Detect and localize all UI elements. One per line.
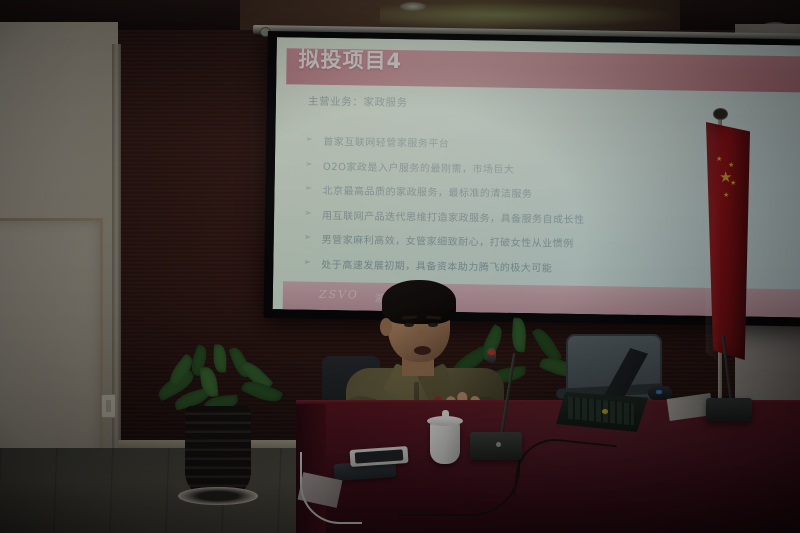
star-icon: ★ bbox=[728, 162, 734, 169]
list-item-label: 用互联网产品迭代思维打造家政服务，具备服务自成长性 bbox=[322, 210, 585, 225]
mouse-led-icon bbox=[656, 390, 662, 394]
laptop-keys[interactable] bbox=[568, 397, 634, 426]
plant-pot bbox=[185, 406, 251, 498]
door-jamb bbox=[112, 44, 121, 492]
speaker-nose bbox=[418, 330, 425, 342]
trackpoint-icon[interactable] bbox=[602, 409, 608, 414]
microphone-indicator-icon bbox=[488, 350, 495, 355]
teacup-lid-knob bbox=[442, 410, 449, 419]
microphone-base[interactable] bbox=[706, 398, 752, 422]
list-item-label: 首家互联网轻管家服务平台 bbox=[323, 137, 449, 150]
plant-pot-base bbox=[178, 487, 258, 505]
speaker-ear bbox=[380, 318, 392, 336]
downlight-icon bbox=[400, 2, 426, 11]
bullet-arrow-icon: ➢ bbox=[304, 208, 312, 218]
speaker-eye bbox=[428, 323, 438, 327]
list-item-label: 男管家麻利高效，女管家细致耐心，打破女性从业惯例 bbox=[322, 235, 574, 250]
bullet-arrow-icon: ➢ bbox=[305, 135, 313, 145]
star-icon: ★ bbox=[730, 180, 736, 187]
bullet-arrow-icon: ➢ bbox=[303, 257, 311, 267]
slide-subtitle: 主营业务：家政服务 bbox=[308, 94, 408, 111]
star-icon: ★ bbox=[723, 192, 729, 199]
screenshot-root: 拟投项目4 主营业务：家政服务 ➢ 首家互联网轻管家服务平台 ➢ O2O家政是入… bbox=[0, 0, 800, 533]
flag-pole-finial-icon bbox=[713, 108, 728, 120]
teacup[interactable] bbox=[430, 422, 460, 464]
microphone-led-icon bbox=[496, 442, 501, 447]
speaker-mouth bbox=[414, 346, 431, 355]
wall-panel-trim bbox=[0, 218, 103, 474]
speaker-hair bbox=[382, 280, 456, 324]
bullet-arrow-icon: ➢ bbox=[305, 159, 313, 169]
list-item-label: O2O家政是入户服务的最刚需，市场巨大 bbox=[323, 161, 515, 175]
microphone-base[interactable] bbox=[470, 432, 522, 460]
list-item-label: 处于高速发展初期，具备资本助力腾飞的极大可能 bbox=[321, 259, 552, 274]
list-item-label: 北京最高品质的家政服务，最标准的清洁服务 bbox=[322, 186, 532, 200]
light-switch[interactable] bbox=[101, 394, 116, 418]
bullet-arrow-icon: ➢ bbox=[304, 184, 312, 194]
bullet-arrow-icon: ➢ bbox=[304, 233, 312, 243]
speaker-eye bbox=[404, 323, 414, 327]
slide-title: 拟投项目4 bbox=[298, 43, 402, 75]
phone-screen[interactable] bbox=[355, 449, 404, 463]
